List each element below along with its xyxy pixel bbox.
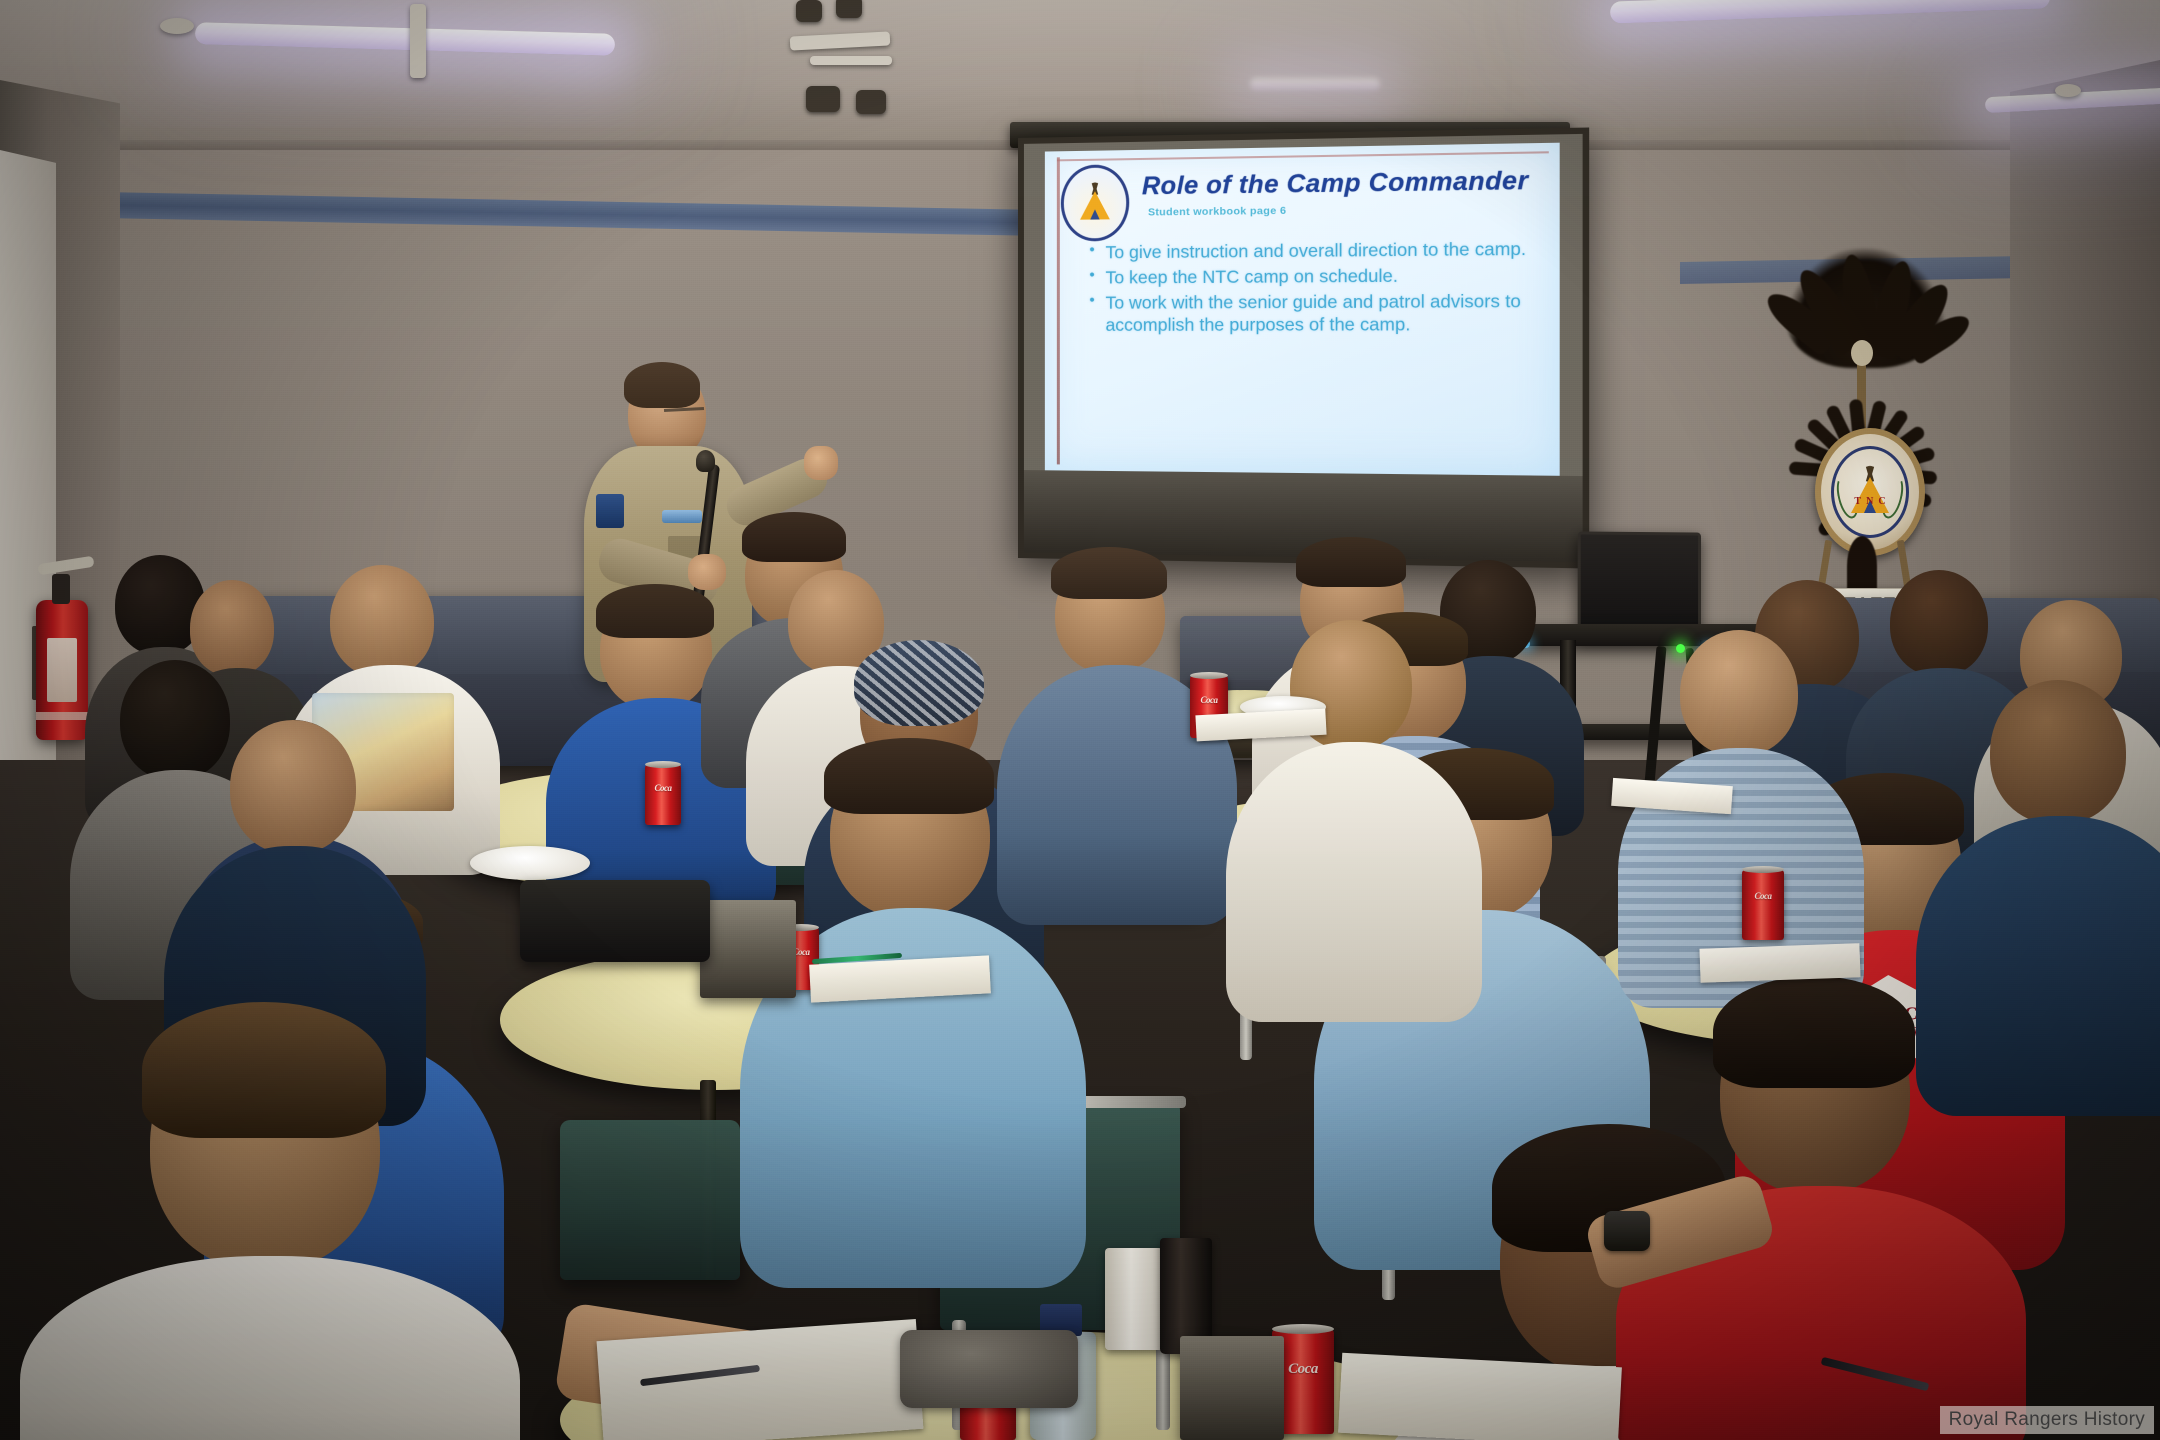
presentation-slide: Role of the Camp Commander Student workb… <box>1045 143 1559 476</box>
emblem-letter-n: N <box>1866 496 1873 507</box>
ceiling-light-tube-4 <box>1250 78 1380 90</box>
laptop-screen[interactable] <box>1578 531 1701 638</box>
laptop-bag <box>520 880 710 962</box>
white-cup[interactable] <box>1105 1248 1163 1350</box>
presenter-hair <box>624 362 700 408</box>
projector-head <box>806 86 840 112</box>
slide-title: Role of the Camp Commander <box>1142 166 1548 202</box>
wristwatch <box>1604 1211 1650 1251</box>
track-light-head-1 <box>796 0 822 22</box>
foreground-case <box>1180 1336 1284 1440</box>
hair <box>142 1002 386 1138</box>
presenter-mic-hand <box>688 554 726 590</box>
ceiling-speaker <box>2055 84 2081 97</box>
projection-screen: Role of the Camp Commander Student workb… <box>1018 127 1589 568</box>
slide-bullet: To keep the NTC camp on schedule. <box>1089 263 1539 289</box>
plate <box>470 846 590 880</box>
head <box>330 565 434 677</box>
snack-bag <box>900 1330 1078 1408</box>
watermark: Royal Rangers History <box>1940 1406 2154 1434</box>
extinguisher-label <box>47 638 77 702</box>
emblem-letter-c: C <box>1878 496 1885 507</box>
ntc-letters: T N C <box>1847 496 1893 507</box>
slide-bullet: To work with the senior guide and patrol… <box>1089 289 1539 337</box>
track-light-head-2 <box>836 0 862 18</box>
presenter-pointing-hand <box>804 446 838 480</box>
notebook-foreground-2[interactable] <box>1338 1353 1622 1440</box>
ntc-medallion: T N C <box>1815 428 1925 556</box>
laptop-status-led <box>1676 644 1685 653</box>
slide-bullet-list: To give instruction and overall directio… <box>1089 237 1539 337</box>
projector-head-2 <box>856 90 886 114</box>
microphone-head <box>696 450 715 472</box>
slide-bullet: To give instruction and overall directio… <box>1089 237 1539 264</box>
slide-subtitle: Student workbook page 6 <box>1148 202 1548 219</box>
soda-can[interactable]: Coca <box>1742 870 1784 940</box>
chair-left-front[interactable] <box>560 1120 740 1280</box>
ceiling-conduit <box>410 4 426 78</box>
classroom-photo: Role of the Camp Commander Student workb… <box>0 0 2160 1440</box>
emblem-letter-t: T <box>1854 496 1861 507</box>
bandana-headwear <box>854 640 984 726</box>
smoke-detector <box>160 18 194 34</box>
plaque-bead <box>1851 340 1873 366</box>
handout-paper[interactable] <box>1699 943 1860 983</box>
shoulder-patch <box>596 494 624 528</box>
soda-can[interactable]: Coca <box>645 765 681 825</box>
projector-mount-bar <box>810 56 892 65</box>
tabletop-device <box>700 900 796 998</box>
ntc-teepee-emblem-icon <box>1061 164 1129 241</box>
hair <box>1713 976 1915 1088</box>
name-badge <box>662 510 702 523</box>
